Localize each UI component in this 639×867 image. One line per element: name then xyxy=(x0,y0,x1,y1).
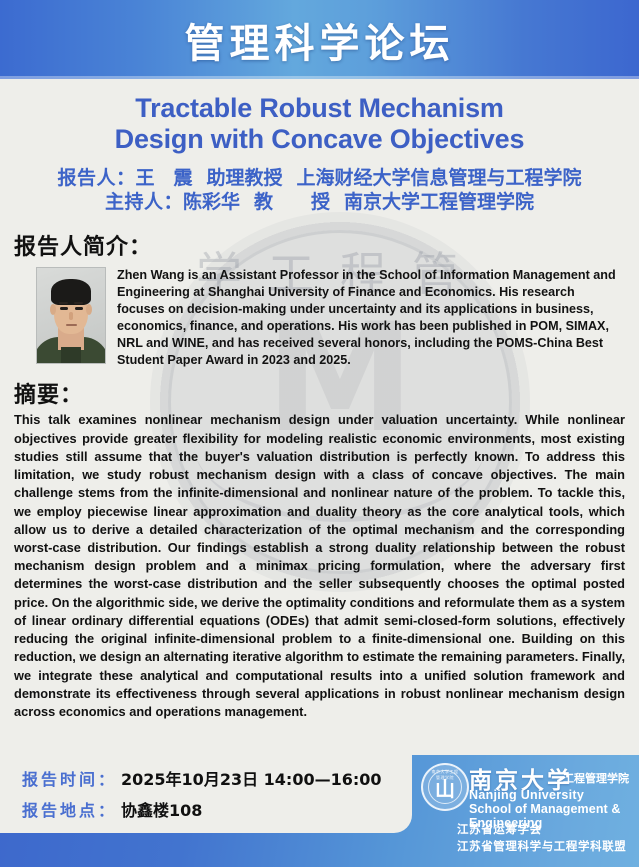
time-label: 报告时间： xyxy=(22,770,117,789)
footer: 报告时间：2025年10月23日 14:00—16:00 报告地点：协鑫楼108… xyxy=(0,755,639,867)
speaker-label: 报告人： xyxy=(57,167,135,189)
host-rank: 教 授 xyxy=(254,191,330,213)
footer-info-panel: 报告时间：2025年10月23日 14:00—16:00 报告地点：协鑫楼108 xyxy=(0,755,412,833)
host-affiliation: 南京大学工程管理学院 xyxy=(344,191,534,213)
talk-title-line-1: Tractable Robust Mechanism xyxy=(18,93,621,124)
university-name-en: Nanjing University xyxy=(469,788,584,802)
seal-mountain-glyph: 山 xyxy=(435,779,455,799)
place-row: 报告地点：协鑫楼108 xyxy=(0,790,412,821)
nju-logo-block: 南京大学工程管理学院 山 南京大学 工程管理学院 Nanjing Univers… xyxy=(411,755,639,867)
host-label: 主持人： xyxy=(105,191,183,213)
host-row: 主持人：陈彩华教 授南京大学工程管理学院 xyxy=(6,190,633,215)
school-name-cn: 工程管理学院 xyxy=(563,770,629,786)
nju-seal-icon: 南京大学工程管理学院 山 xyxy=(421,763,469,811)
association-line-1: 江苏省运筹学会 xyxy=(457,821,626,838)
page-title: Tractable Robust Mechanism Design with C… xyxy=(0,79,639,162)
abstract-text: This talk examines nonlinear mechanism d… xyxy=(0,411,639,721)
speaker-name: 王 震 xyxy=(135,167,192,189)
bio-block: Zhen Wang is an Assistant Professor in t… xyxy=(0,265,639,369)
speaker-photo xyxy=(36,267,106,364)
speaker-affiliation: 上海财经大学信息管理与工程学院 xyxy=(297,167,582,189)
seminar-poster: 学工程管 M 管理科学论坛 Tractable Robust Mechanism… xyxy=(0,0,639,867)
time-row: 报告时间：2025年10月23日 14:00—16:00 xyxy=(0,755,412,790)
people-block: 报告人：王 震助理教授上海财经大学信息管理与工程学院 主持人：陈彩华教 授南京大… xyxy=(0,162,639,217)
association-lines: 江苏省运筹学会 江苏省管理科学与工程学科联盟 xyxy=(457,821,626,856)
bio-text: Zhen Wang is an Assistant Professor in t… xyxy=(117,267,625,369)
host-name: 陈彩华 xyxy=(183,191,240,213)
time-value: 2025年10月23日 14:00—16:00 xyxy=(121,770,382,789)
bio-heading: 报告人简介： xyxy=(0,217,639,265)
place-value: 协鑫楼108 xyxy=(121,801,202,820)
association-line-2: 江苏省管理科学与工程学科联盟 xyxy=(457,838,626,855)
abstract-heading: 摘要： xyxy=(0,369,639,411)
header-banner: 管理科学论坛 xyxy=(0,0,639,79)
talk-title-line-2: Design with Concave Objectives xyxy=(18,124,621,155)
place-label: 报告地点： xyxy=(22,801,117,820)
speaker-row: 报告人：王 震助理教授上海财经大学信息管理与工程学院 xyxy=(6,166,633,191)
speaker-rank: 助理教授 xyxy=(207,167,283,189)
banner-title: 管理科学论坛 xyxy=(185,11,455,69)
